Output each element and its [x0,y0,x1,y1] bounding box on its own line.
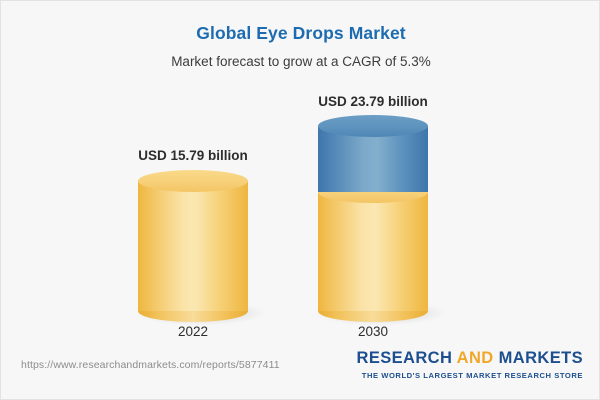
bar-group-2030: USD 23.79 billion 2030 [293,86,453,341]
cylinder-bar-2030[interactable] [318,115,428,311]
report-url[interactable]: https://www.researchandmarkets.com/repor… [21,359,280,371]
market-forecast-chart-card: Global Eye Drops Market Market forecast … [0,0,600,400]
logo-wordmark: RESEARCH AND MARKETS [357,349,584,368]
cylinder-body-base-2030 [318,192,428,311]
cylinder-body-2022 [138,181,248,311]
bar-segment-growth-2030 [318,115,428,192]
logo-word-research: RESEARCH [357,349,457,367]
logo-word-markets: MARKETS [494,349,583,367]
chart-subtitle: Market forecast to grow at a CAGR of 5.3… [1,44,600,69]
bar-segment-base-2022 [138,170,248,311]
bar-segment-base-2030 [318,181,428,311]
cylinder-bar-2022[interactable] [138,170,248,311]
page-title: Global Eye Drops Market [1,1,600,44]
chart-header: Global Eye Drops Market Market forecast … [1,1,600,69]
research-and-markets-logo[interactable]: RESEARCH AND MARKETS THE WORLD'S LARGEST… [357,349,584,380]
cylinder-cap-2022 [138,170,248,192]
axis-label-2022: 2022 [113,324,273,339]
chart-footer: https://www.researchandmarkets.com/repor… [1,341,600,399]
cylinder-cap-growth-2030 [318,115,428,137]
axis-label-2030: 2030 [293,324,453,339]
logo-word-and: AND [457,349,494,367]
bar-value-label-2030: USD 23.79 billion [293,94,453,109]
logo-tagline: THE WORLD'S LARGEST MARKET RESEARCH STOR… [357,371,584,380]
bar-group-2022: USD 15.79 billion 2022 [113,86,273,341]
bar-value-label-2022: USD 15.79 billion [113,148,273,163]
chart-plot-area: USD 15.79 billion 2022 USD 23.79 billion [1,86,600,341]
